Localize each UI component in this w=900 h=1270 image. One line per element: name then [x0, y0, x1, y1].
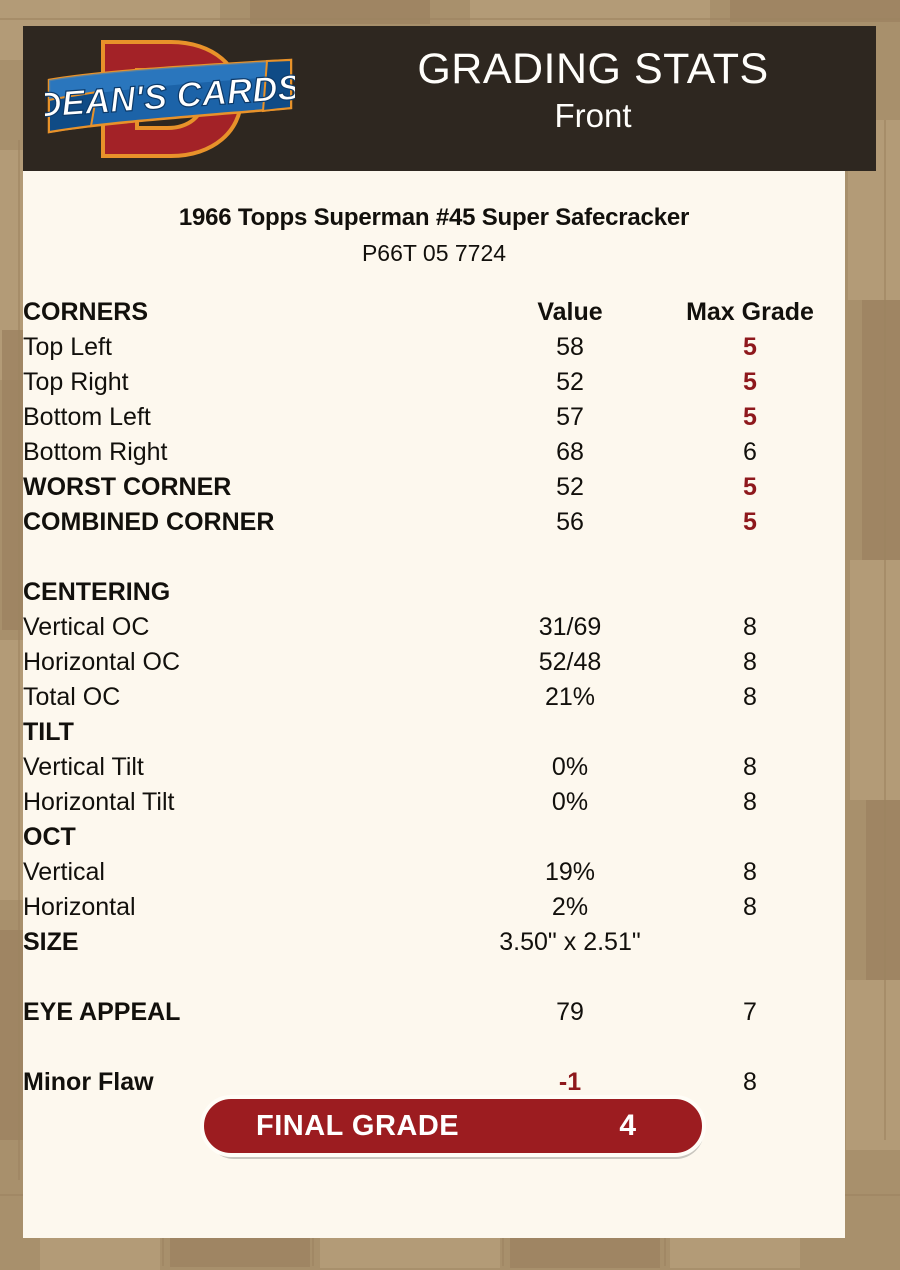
section-title-corners: CORNERS: [23, 295, 485, 330]
row-label: Horizontal: [23, 890, 485, 925]
row-label: Bottom Left: [23, 400, 485, 435]
row-value: 58: [485, 330, 655, 365]
table-row: Bottom Left 57 5: [23, 400, 845, 435]
row-value: 3.50" x 2.51": [485, 925, 655, 960]
row-label: COMBINED CORNER: [23, 505, 485, 540]
row-value: 52: [485, 470, 655, 505]
row-value: 21%: [485, 680, 655, 715]
row-value: 0%: [485, 785, 655, 820]
table-row: Total OC 21% 8: [23, 680, 845, 715]
row-label: Vertical: [23, 855, 485, 890]
table-row: Vertical OC 31/69 8: [23, 610, 845, 645]
row-value: 19%: [485, 855, 655, 890]
final-grade-pill: FINAL GRADE 4: [200, 1095, 706, 1157]
row-grade: 5: [655, 400, 845, 435]
row-grade: 8: [655, 855, 845, 890]
row-grade: 8: [655, 785, 845, 820]
table-row: Vertical Tilt 0% 8: [23, 750, 845, 785]
header-bar: DEAN'S CARDS GRADING STATS Front: [23, 26, 876, 171]
row-label: WORST CORNER: [23, 470, 485, 505]
row-label: Bottom Right: [23, 435, 485, 470]
deans-cards-logo[interactable]: DEAN'S CARDS: [45, 34, 295, 164]
row-value: 68: [485, 435, 655, 470]
spacer-row: [23, 960, 845, 995]
row-grade: 8: [655, 750, 845, 785]
row-grade: 5: [655, 330, 845, 365]
card-name: 1966 Topps Superman #45 Super Safecracke…: [23, 204, 845, 232]
row-grade: 8: [655, 680, 845, 715]
section-title-tilt: TILT: [23, 715, 485, 750]
stats-content: 1966 Topps Superman #45 Super Safecracke…: [23, 171, 845, 1100]
table-row-worst-corner: WORST CORNER 52 5: [23, 470, 845, 505]
table-row: Vertical 19% 8: [23, 855, 845, 890]
page-subtitle: Front: [313, 94, 873, 138]
row-grade: 8: [655, 890, 845, 925]
card-id: P66T 05 7724: [23, 240, 845, 267]
row-grade: 8: [655, 645, 845, 680]
spacer-row: [23, 540, 845, 575]
row-value: 79: [485, 995, 655, 1030]
row-label: Top Right: [23, 365, 485, 400]
row-label: Vertical OC: [23, 610, 485, 645]
table-row: Horizontal 2% 8: [23, 890, 845, 925]
row-label: Horizontal OC: [23, 645, 485, 680]
final-grade-banner: FINAL GRADE 4: [200, 1095, 710, 1157]
row-label: Horizontal Tilt: [23, 785, 485, 820]
table-row: Top Left 58 5: [23, 330, 845, 365]
section-title-oct: OCT: [23, 820, 485, 855]
row-value: 52/48: [485, 645, 655, 680]
row-label: EYE APPEAL: [23, 995, 485, 1030]
row-value: 56: [485, 505, 655, 540]
row-value: 2%: [485, 890, 655, 925]
table-row: Bottom Right 68 6: [23, 435, 845, 470]
row-label: Top Left: [23, 330, 485, 365]
table-row-combined-corner: COMBINED CORNER 56 5: [23, 505, 845, 540]
row-label: SIZE: [23, 925, 485, 960]
column-header-max-grade: Max Grade: [655, 295, 845, 330]
table-row-eye-appeal: EYE APPEAL 79 7: [23, 995, 845, 1030]
row-grade: 7: [655, 995, 845, 1030]
final-grade-label: FINAL GRADE: [256, 1110, 459, 1143]
row-grade: 5: [655, 470, 845, 505]
table-row-size: SIZE 3.50" x 2.51": [23, 925, 845, 960]
row-grade: 8: [655, 610, 845, 645]
final-grade-value: 4: [619, 1109, 636, 1143]
row-value: 52: [485, 365, 655, 400]
table-row: Horizontal Tilt 0% 8: [23, 785, 845, 820]
row-value: 31/69: [485, 610, 655, 645]
row-label: Vertical Tilt: [23, 750, 485, 785]
column-header-value: Value: [485, 295, 655, 330]
row-label: Total OC: [23, 680, 485, 715]
row-grade: 5: [655, 505, 845, 540]
grading-stats-table: CORNERS Value Max Grade Top Left 58 5 To…: [23, 295, 845, 1100]
row-value: 57: [485, 400, 655, 435]
page-title: GRADING STATS: [313, 44, 873, 94]
row-value: 0%: [485, 750, 655, 785]
row-grade: 6: [655, 435, 845, 470]
row-grade: [655, 925, 845, 960]
table-row: Top Right 52 5: [23, 365, 845, 400]
section-title-centering: CENTERING: [23, 575, 485, 610]
row-grade: 5: [655, 365, 845, 400]
table-row-centering-header: CENTERING: [23, 575, 845, 610]
spacer-row: [23, 1030, 845, 1065]
table-row: Horizontal OC 52/48 8: [23, 645, 845, 680]
table-row-oct-header: OCT: [23, 820, 845, 855]
table-row-tilt-header: TILT: [23, 715, 845, 750]
table-row-corners-header: CORNERS Value Max Grade: [23, 295, 845, 330]
